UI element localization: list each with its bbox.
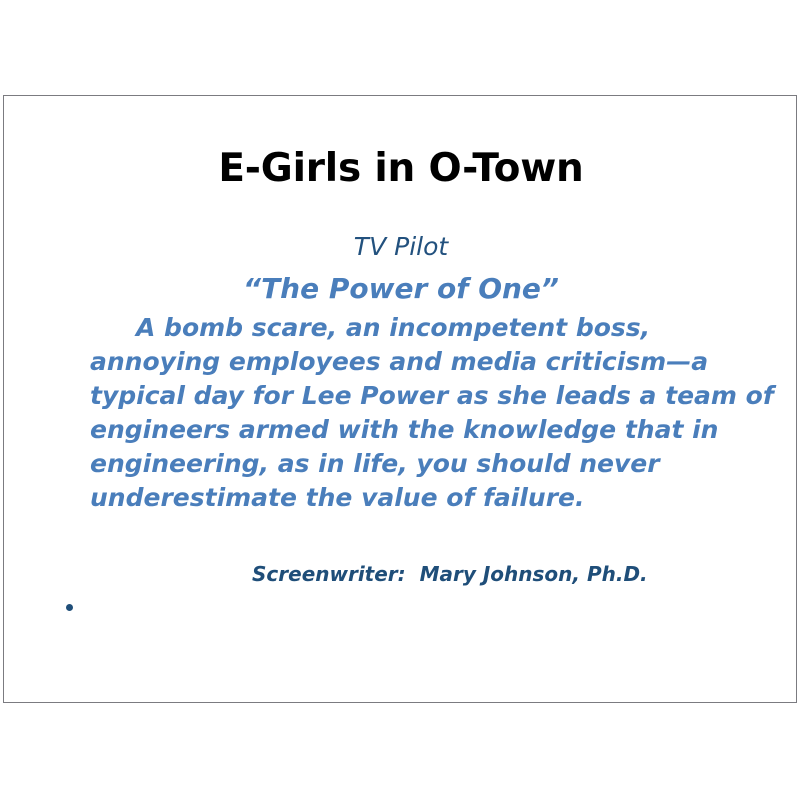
- screenwriter-credit: Screenwriter: Mary Johnson, Ph.D.: [90, 561, 780, 587]
- slide-canvas: E-Girls in O-Town TV Pilot “The Power of…: [0, 0, 800, 800]
- list-item: [66, 592, 766, 622]
- slide-content-area: E-Girls in O-Town TV Pilot “The Power of…: [4, 96, 798, 704]
- slide-frame: E-Girls in O-Town TV Pilot “The Power of…: [3, 95, 797, 703]
- page-title: E-Girls in O-Town: [4, 146, 798, 192]
- format-label: TV Pilot: [4, 231, 798, 263]
- synopsis-paragraph: A bomb scare, an incompetent boss, annoy…: [90, 311, 780, 515]
- bullet-point-icon: [66, 604, 73, 611]
- episode-title: “The Power of One”: [4, 272, 798, 306]
